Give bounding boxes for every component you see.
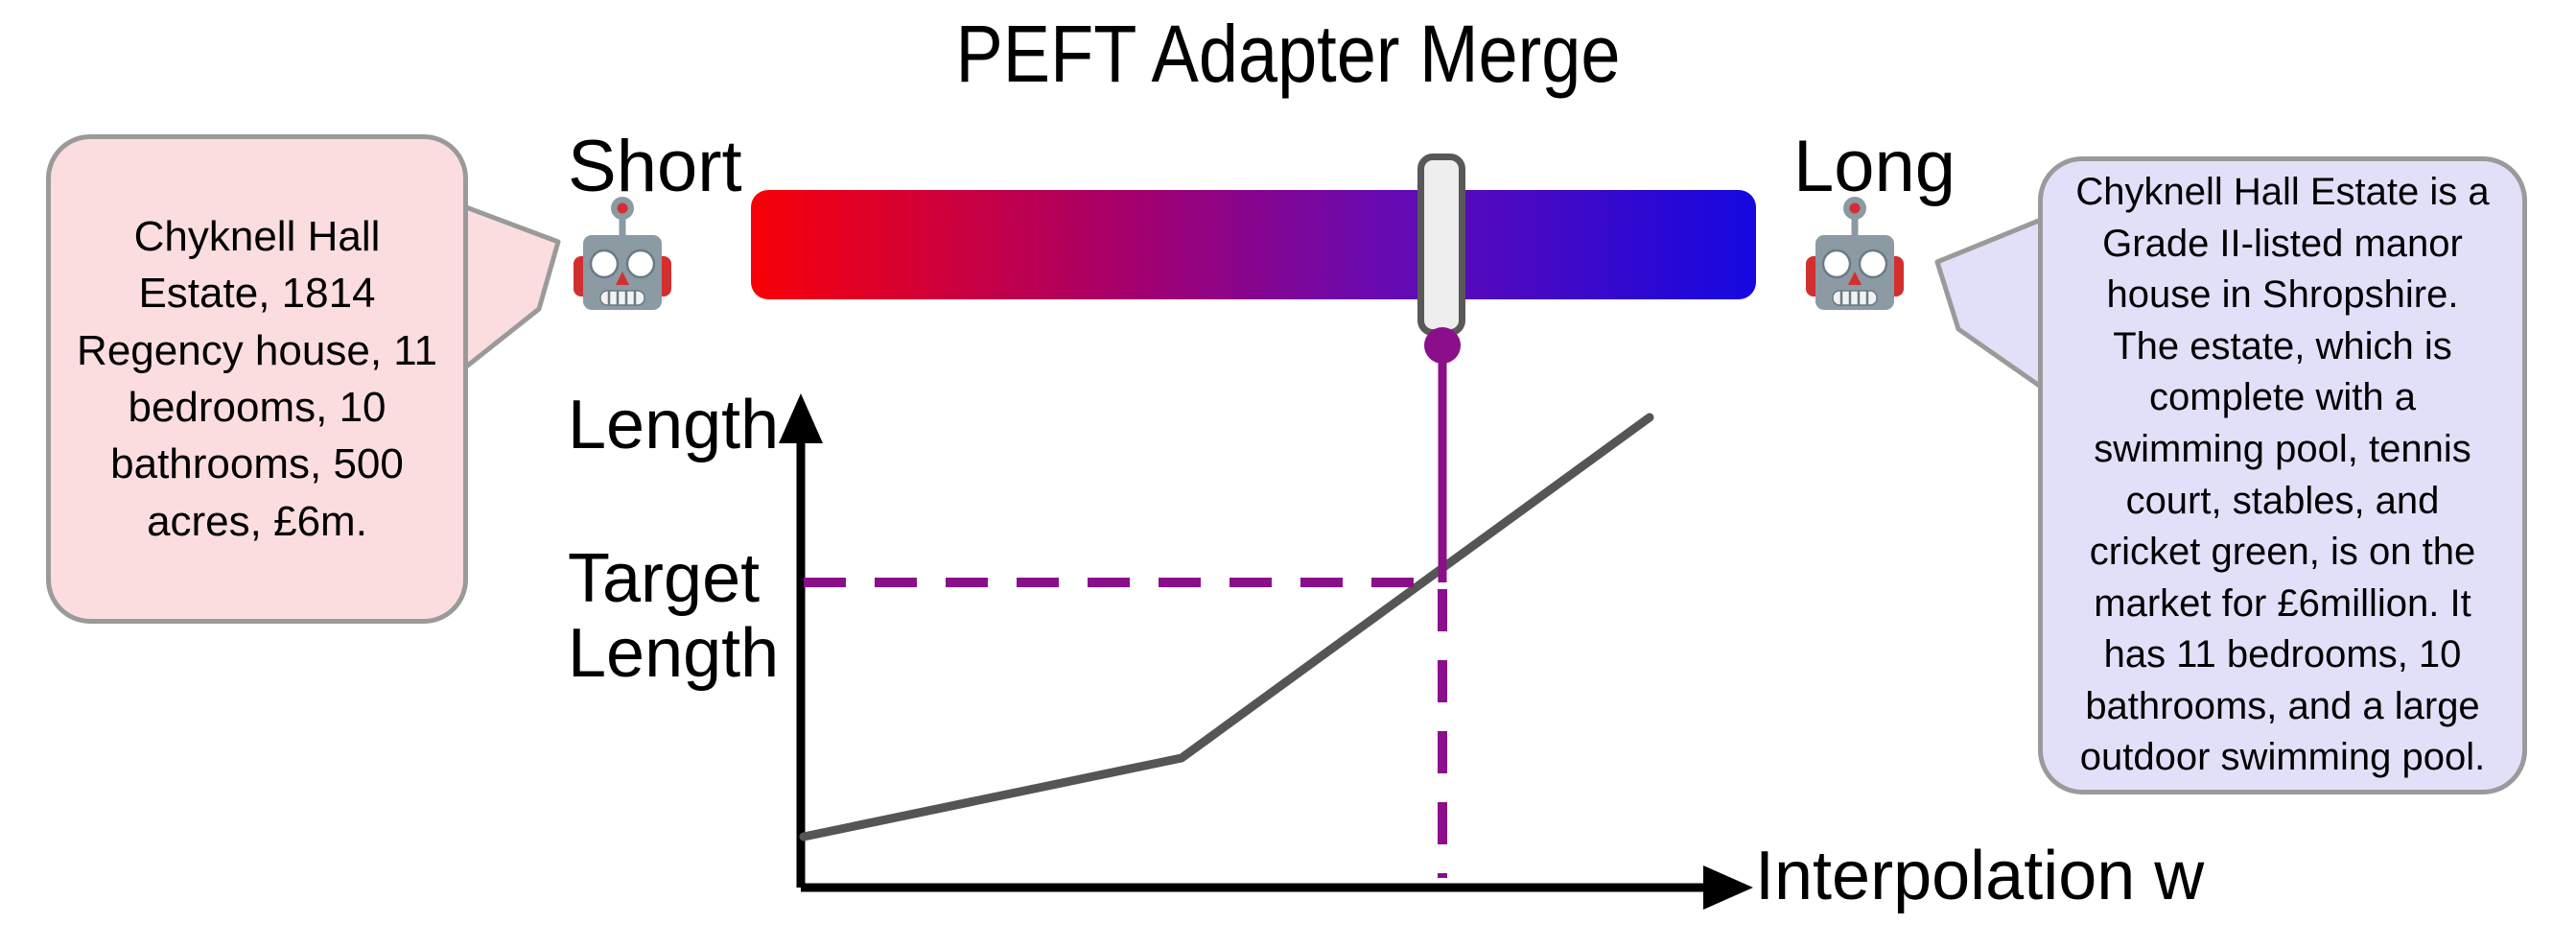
- x-axis: [801, 865, 1753, 910]
- figure-canvas: PEFT Adapter Merge Chyknell Hall Estate,…: [0, 0, 2576, 948]
- target-length-label: Target Length: [568, 542, 779, 692]
- y-axis-label: Length: [568, 389, 779, 463]
- slider-link-dot: [1424, 327, 1461, 364]
- x-axis-label: Interpolation w: [1755, 840, 2204, 914]
- y-axis: [779, 393, 823, 888]
- length-vs-interpolation-plot: [0, 0, 2576, 948]
- length-curve: [804, 417, 1650, 837]
